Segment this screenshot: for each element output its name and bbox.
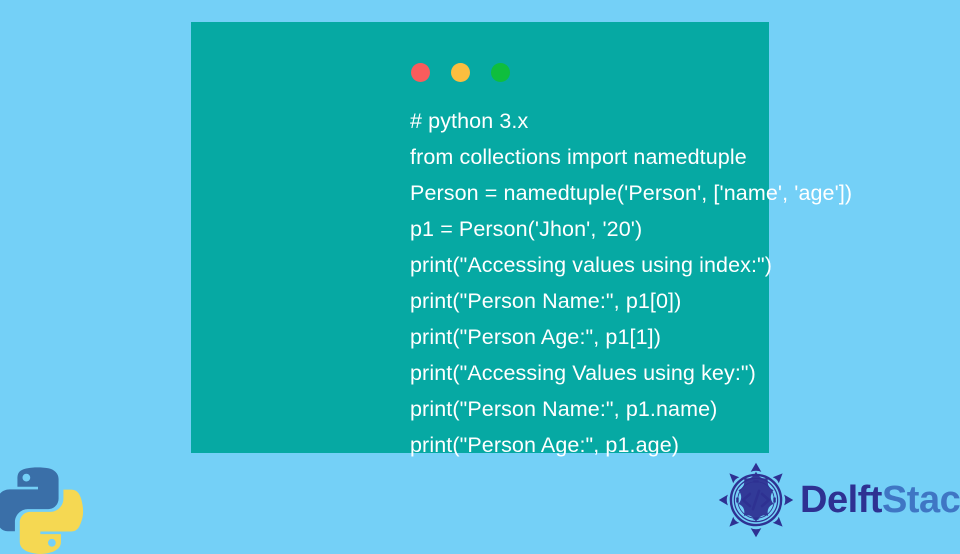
code-line: Person = namedtuple('Person', ['name', '… bbox=[410, 175, 950, 211]
code-line: # python 3.x bbox=[410, 103, 950, 139]
code-line: print("Person Age:", p1.age) bbox=[410, 427, 950, 463]
code-line: print("Accessing values using index:") bbox=[410, 247, 950, 283]
window-controls bbox=[411, 63, 510, 82]
code-block[interactable]: # python 3.x from collections import nam… bbox=[410, 103, 950, 463]
code-line: from collections import namedtuple bbox=[410, 139, 950, 175]
code-card: # python 3.x from collections import nam… bbox=[191, 22, 769, 453]
python-logo bbox=[0, 462, 84, 554]
code-line: print("Person Name:", p1[0]) bbox=[410, 283, 950, 319]
wordmark-stack: Stack bbox=[882, 479, 960, 521]
maximize-button[interactable] bbox=[491, 63, 510, 82]
minimize-button[interactable] bbox=[451, 63, 470, 82]
code-line: p1 = Person('Jhon', '20') bbox=[410, 211, 950, 247]
close-button[interactable] bbox=[411, 63, 430, 82]
code-line: print("Accessing Values using key:") bbox=[410, 355, 950, 391]
delftstack-wordmark: DelftStack bbox=[800, 479, 960, 522]
delftstack-brand: DelftStack bbox=[718, 462, 960, 538]
delftstack-mandala-logo bbox=[718, 462, 794, 538]
code-line: print("Person Age:", p1[1]) bbox=[410, 319, 950, 355]
wordmark-delft: Delft bbox=[800, 479, 882, 521]
code-line: print("Person Name:", p1.name) bbox=[410, 391, 950, 427]
